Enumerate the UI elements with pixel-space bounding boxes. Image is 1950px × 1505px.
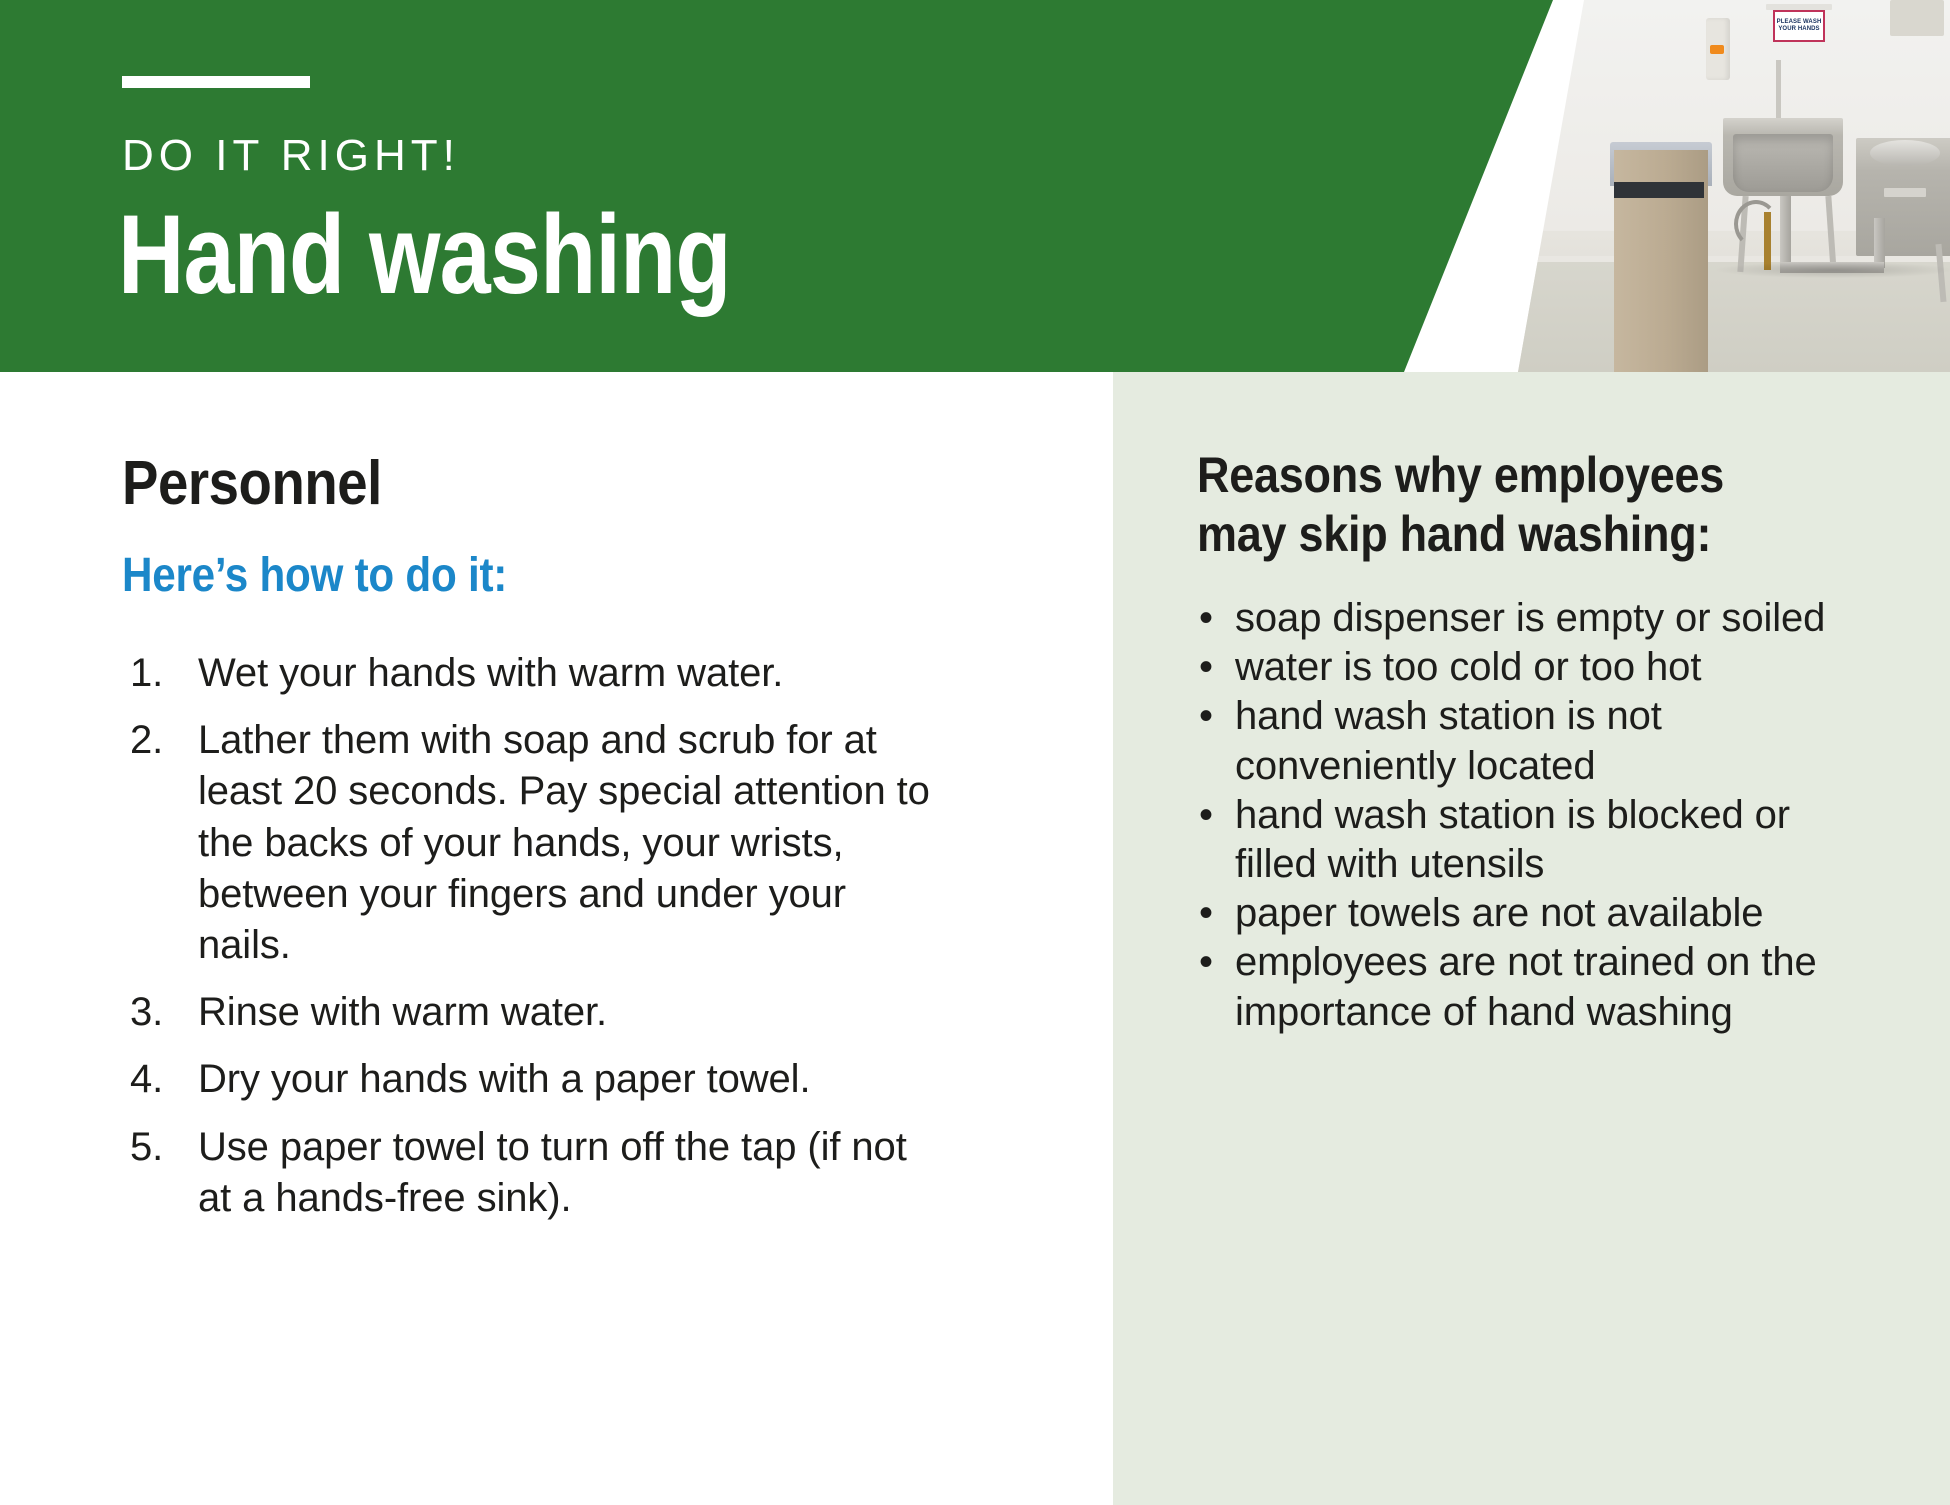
step-text: Use paper towel to turn off the tap (if … bbox=[198, 1122, 938, 1224]
subtitle-how-to: Here’s how to do it: bbox=[122, 548, 507, 603]
reasons-list: • soap dispenser is empty or soiled • wa… bbox=[1199, 594, 1899, 1037]
poster-page: PLEASE WASH YOUR HANDS bbox=[0, 0, 1950, 1505]
step-number: 4. bbox=[126, 1054, 198, 1105]
drain-pipe-vertical-2 bbox=[1874, 218, 1885, 268]
poster-header: PLEASE WASH YOUR HANDS bbox=[0, 0, 1950, 372]
header-kicker: DO IT RIGHT! bbox=[122, 134, 460, 178]
reason-text: employees are not trained on the importa… bbox=[1235, 938, 1835, 1036]
reason-text: water is too cold or too hot bbox=[1235, 643, 1835, 692]
bullet-icon: • bbox=[1199, 594, 1235, 643]
list-item: 5. Use paper towel to turn off the tap (… bbox=[126, 1122, 956, 1224]
photo-floor bbox=[1518, 262, 1950, 372]
bullet-icon: • bbox=[1199, 692, 1235, 741]
reason-text: hand wash station is blocked or filled w… bbox=[1235, 791, 1835, 889]
list-item: • water is too cold or too hot bbox=[1199, 643, 1899, 692]
section-title-personnel: Personnel bbox=[122, 448, 382, 519]
please-wash-your-hands-sign: PLEASE WASH YOUR HANDS bbox=[1773, 10, 1825, 42]
paper-towel-dispenser-icon bbox=[1890, 0, 1944, 36]
header-accent-rule bbox=[122, 76, 310, 88]
list-item: 2. Lather them with soap and scrub for a… bbox=[126, 715, 956, 971]
fountain-bowl bbox=[1870, 140, 1940, 166]
how-to-steps-list: 1. Wet your hands with warm water. 2. La… bbox=[126, 648, 956, 1240]
soap-dispenser-nozzle bbox=[1710, 45, 1724, 54]
supply-hose bbox=[1734, 200, 1778, 248]
list-item: 4. Dry your hands with a paper towel. bbox=[126, 1054, 956, 1105]
step-number: 2. bbox=[126, 715, 198, 766]
reasons-title: Reasons why employees may skip hand wash… bbox=[1197, 446, 1755, 564]
reasons-column: Reasons why employees may skip hand wash… bbox=[1113, 372, 1950, 1505]
list-item: • paper towels are not available bbox=[1199, 889, 1899, 938]
list-item: 1. Wet your hands with warm water. bbox=[126, 648, 956, 699]
step-text: Rinse with warm water. bbox=[198, 987, 938, 1038]
reason-text: soap dispenser is empty or soiled bbox=[1235, 594, 1835, 643]
list-item: 3. Rinse with warm water. bbox=[126, 987, 956, 1038]
fountain-label bbox=[1884, 188, 1926, 197]
reason-text: paper towels are not available bbox=[1235, 889, 1835, 938]
bullet-icon: • bbox=[1199, 889, 1235, 938]
list-item: • hand wash station is blocked or filled… bbox=[1199, 791, 1899, 889]
sign-text: PLEASE WASH YOUR HANDS bbox=[1775, 19, 1823, 34]
step-text: Dry your hands with a paper towel. bbox=[198, 1054, 938, 1105]
list-item: • hand wash station is not conveniently … bbox=[1199, 692, 1899, 790]
faucet-neck bbox=[1776, 60, 1781, 122]
step-number: 3. bbox=[126, 987, 198, 1038]
poster-body: Personnel Here’s how to do it: 1. Wet yo… bbox=[0, 372, 1950, 1505]
drain-pipe-vertical bbox=[1780, 196, 1791, 270]
bullet-icon: • bbox=[1199, 791, 1235, 840]
bullet-icon: • bbox=[1199, 643, 1235, 692]
reason-text: hand wash station is not conveniently lo… bbox=[1235, 692, 1835, 790]
page-title: Hand washing bbox=[118, 196, 731, 314]
sink-basin bbox=[1733, 134, 1833, 192]
list-item: • employees are not trained on the impor… bbox=[1199, 938, 1899, 1036]
hand-wash-station-photo: PLEASE WASH YOUR HANDS bbox=[1518, 0, 1950, 372]
step-number: 5. bbox=[126, 1122, 198, 1173]
step-number: 1. bbox=[126, 648, 198, 699]
bullet-icon: • bbox=[1199, 938, 1235, 987]
step-text: Lather them with soap and scrub for at l… bbox=[198, 715, 938, 971]
personnel-column: Personnel Here’s how to do it: 1. Wet yo… bbox=[0, 372, 1113, 1505]
floor-shadow bbox=[1716, 262, 1950, 278]
step-text: Wet your hands with warm water. bbox=[198, 648, 938, 699]
trash-can-liner bbox=[1614, 182, 1704, 198]
list-item: • soap dispenser is empty or soiled bbox=[1199, 594, 1899, 643]
